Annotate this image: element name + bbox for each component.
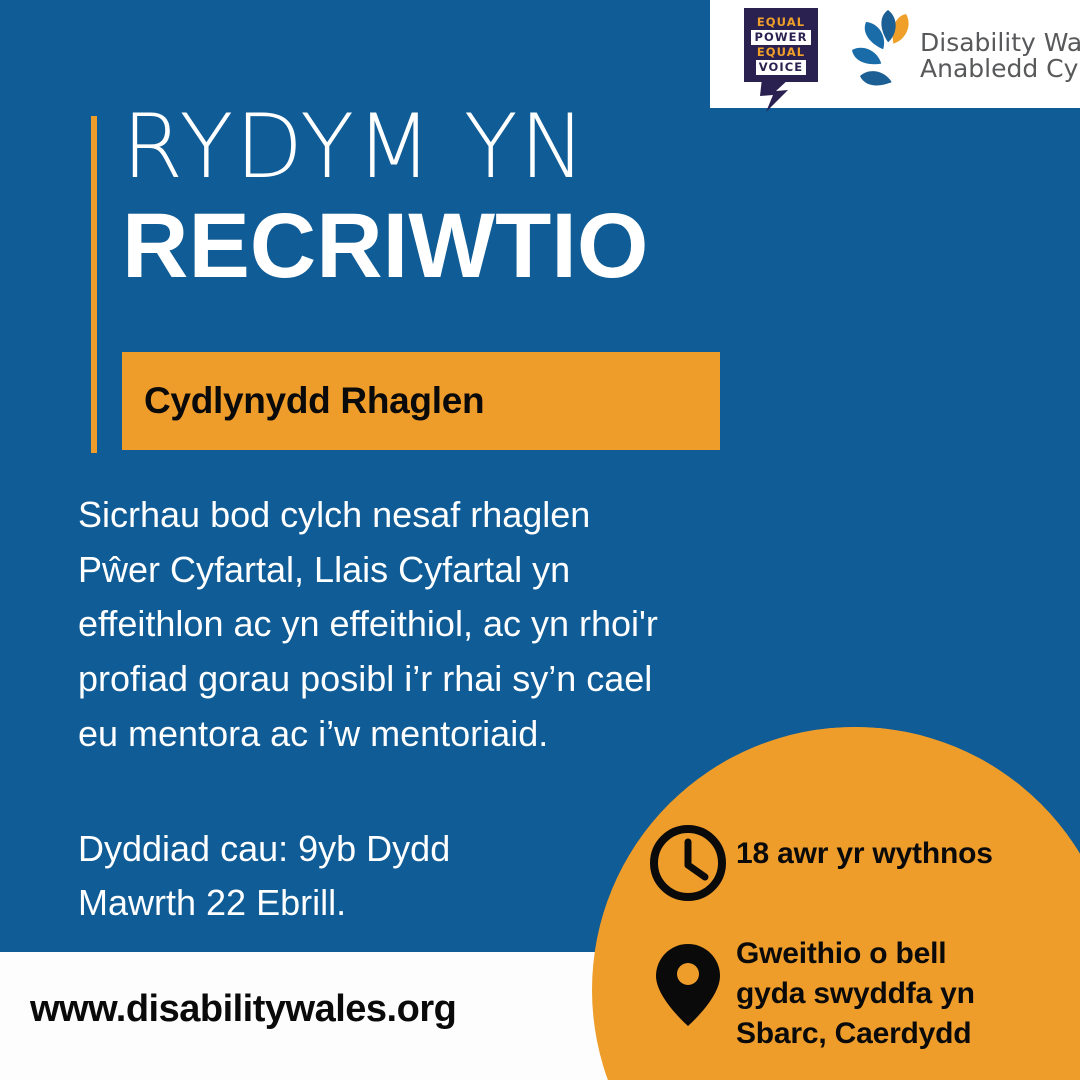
clock-icon-wrap (640, 820, 736, 906)
list-item-location: Gweithio o bell gyda swyddfa yn Sbarc, C… (640, 932, 1080, 1054)
clock-icon (645, 820, 731, 906)
epev-line-equal-1: EQUAL (755, 16, 807, 30)
job-details-list: 18 awr yr wythnos Gweithio o bell gyda s… (640, 820, 1080, 1054)
job-description: Sicrhau bod cylch nesaf rhaglen Pŵer Cyf… (78, 488, 778, 762)
headline-line-1: RYDYM YN (122, 104, 842, 190)
recruitment-poster: www.disabilitywales.org EQUAL POWER EQUA… (0, 0, 1080, 1080)
leaf-fan-icon (838, 6, 930, 102)
logo-strip: EQUAL POWER EQUAL VOICE (710, 0, 1080, 108)
logo-name-en: Disability Wales (920, 30, 1080, 56)
map-pin-icon-wrap (640, 932, 736, 1028)
headline-line-2: RECRIWTIO (122, 198, 842, 295)
epev-line-power: POWER (751, 30, 810, 45)
website-url[interactable]: www.disabilitywales.org (30, 988, 456, 1031)
epev-line-voice: VOICE (756, 60, 807, 75)
disability-wales-wordmark: Disability Wales Anabledd Cymru (920, 30, 1080, 83)
equal-power-equal-voice-badge: EQUAL POWER EQUAL VOICE (744, 8, 818, 104)
epev-square: EQUAL POWER EQUAL VOICE (744, 8, 818, 82)
list-item-hours: 18 awr yr wythnos (640, 820, 1080, 906)
page-title: RYDYM YN RECRIWTIO (122, 104, 842, 295)
role-title: Cydlynydd Rhaglen (122, 380, 484, 422)
map-pin-icon (656, 942, 720, 1028)
orange-accent-bar (91, 116, 97, 453)
application-deadline: Dyddiad cau: 9yb Dydd Mawrth 22 Ebrill. (78, 822, 598, 930)
disability-wales-logo: Disability Wales Anabledd Cymru (838, 4, 1078, 104)
epev-line-equal-2: EQUAL (755, 46, 807, 60)
location-text: Gweithio o bell gyda swyddfa yn Sbarc, C… (736, 932, 975, 1054)
logo-name-cy: Anabledd Cymru (920, 56, 1080, 82)
hours-text: 18 awr yr wythnos (736, 820, 993, 874)
role-banner: Cydlynydd Rhaglen (122, 352, 720, 450)
